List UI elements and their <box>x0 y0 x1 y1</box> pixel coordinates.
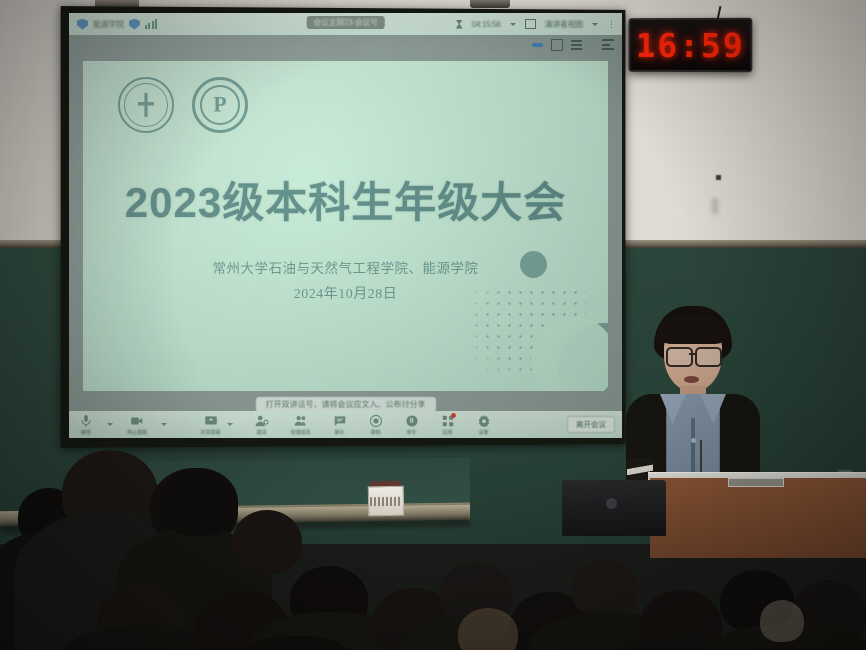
settings-label: 设置 <box>479 429 489 436</box>
camera-label: 停止视频 <box>127 429 147 436</box>
slide-logos: P <box>118 77 248 133</box>
raise-hand-button[interactable]: 举手 <box>405 414 419 436</box>
invite-label: 邀请 <box>256 429 266 436</box>
record-label: 录制 <box>371 429 381 436</box>
participants-icon <box>294 414 308 428</box>
share-control-bar <box>532 39 582 51</box>
audience-head <box>232 510 302 574</box>
chat-icon <box>333 414 347 428</box>
screen-mount-right <box>470 0 510 8</box>
audience-head <box>160 468 238 536</box>
meeting-topic: 会议主题23·会议号 <box>313 17 378 28</box>
view-mode-icon[interactable] <box>525 19 536 29</box>
share-screen-label: 共享屏幕 <box>200 429 220 436</box>
network-signal-icon <box>145 19 158 29</box>
meeting-titlebar-right: 04:15:56 演讲者视图 ⋮ <box>456 13 616 35</box>
toolbar-middle-group: 共享屏幕 邀请 管理成员 <box>200 414 490 436</box>
leave-meeting-button[interactable]: 离开会议 <box>567 416 615 433</box>
chevron-down-icon[interactable] <box>592 23 598 26</box>
invite-icon <box>255 414 269 428</box>
presentation-slide: P 2023级本科生年级大会 常州大学石油与天然气工程学院、能源学院 2024年… <box>83 61 608 391</box>
shield-icon <box>77 19 88 30</box>
lecture-hall-photo: 能源学院 会议主题23·会议号 04:15:56 演讲者视图 ⋮ <box>0 0 866 650</box>
toolbar-left-group: 静音 停止视频 <box>69 414 167 436</box>
glasses-bridge <box>689 353 695 355</box>
wall-smudge <box>712 198 718 214</box>
audience-head <box>458 608 518 650</box>
chevron-down-icon[interactable] <box>227 423 233 426</box>
petroleum-logo-letter: P <box>213 91 226 117</box>
presenter-fringe <box>657 314 729 344</box>
meeting-titlebar-left: 能源学院 <box>69 19 157 30</box>
more-options-icon[interactable]: ⋮ <box>607 19 616 30</box>
camera-icon <box>130 414 144 428</box>
meeting-topic-pill[interactable]: 会议主题23·会议号 <box>306 16 385 29</box>
share-settings-icon[interactable] <box>602 39 614 50</box>
audience <box>0 440 866 650</box>
chevron-down-icon[interactable] <box>107 423 113 426</box>
share-screen-button[interactable]: 共享屏幕 <box>200 414 220 436</box>
pause-share-button[interactable] <box>532 43 543 47</box>
slide-subtitle: 常州大学石油与天然气工程学院、能源学院 <box>83 257 608 277</box>
microphone-button[interactable]: 静音 <box>79 414 93 436</box>
microphone-icon <box>79 414 93 428</box>
raise-hand-label: 举手 <box>407 429 417 436</box>
meeting-toolbar: 静音 停止视频 共享屏幕 <box>69 411 622 438</box>
apps-label: 应用 <box>443 429 453 436</box>
layout-lines-icon[interactable] <box>571 40 582 50</box>
camera-button[interactable]: 停止视频 <box>127 414 147 436</box>
chat-button[interactable]: 聊天 <box>333 414 347 436</box>
record-button[interactable]: 录制 <box>369 414 383 436</box>
apps-notification-badge <box>451 413 456 418</box>
invite-button[interactable]: 邀请 <box>255 414 269 436</box>
slide-title: 2023级本科生年级大会 <box>83 169 608 230</box>
view-mode-label: 演讲者视图 <box>545 19 584 30</box>
chat-label: 聊天 <box>335 429 345 436</box>
wall-spot <box>716 175 721 180</box>
audience-head <box>760 600 804 642</box>
participants-label: 管理成员 <box>291 429 311 436</box>
digital-wall-clock: 16:59 <box>629 18 753 72</box>
glasses-lens-right <box>695 347 722 367</box>
audience-head <box>572 560 638 618</box>
glasses-lens-left <box>666 347 693 367</box>
projected-screen: 能源学院 会议主题23·会议号 04:15:56 演讲者视图 ⋮ <box>69 13 622 438</box>
microphone-label: 静音 <box>81 429 91 436</box>
toolbar-tooltip: 打开双讲话号，请将会议应文入、公布讨分享 <box>256 397 436 412</box>
apps-button[interactable]: 应用 <box>441 414 455 436</box>
clock-time: 16:59 <box>636 25 745 64</box>
raise-hand-icon <box>405 414 419 428</box>
chevron-down-icon[interactable] <box>510 23 516 26</box>
university-seal-logo <box>118 77 174 133</box>
meeting-titlebar: 能源学院 会议主题23·会议号 04:15:56 演讲者视图 ⋮ <box>69 13 622 35</box>
meeting-timer: 04:15:56 <box>472 20 501 29</box>
timer-icon <box>456 20 463 29</box>
security-icon[interactable] <box>129 19 140 30</box>
annotate-icon[interactable] <box>551 39 563 51</box>
petroleum-p-logo: P <box>192 77 248 133</box>
gear-icon <box>477 414 491 428</box>
participants-button[interactable]: 管理成员 <box>291 414 311 436</box>
presenter-mouth <box>684 376 699 383</box>
slide-date: 2024年10月28日 <box>83 283 608 303</box>
chevron-down-icon[interactable] <box>161 423 167 426</box>
meeting-name: 能源学院 <box>93 19 124 30</box>
share-screen-icon <box>203 414 217 428</box>
record-icon <box>369 414 383 428</box>
settings-button[interactable]: 设置 <box>477 414 491 436</box>
